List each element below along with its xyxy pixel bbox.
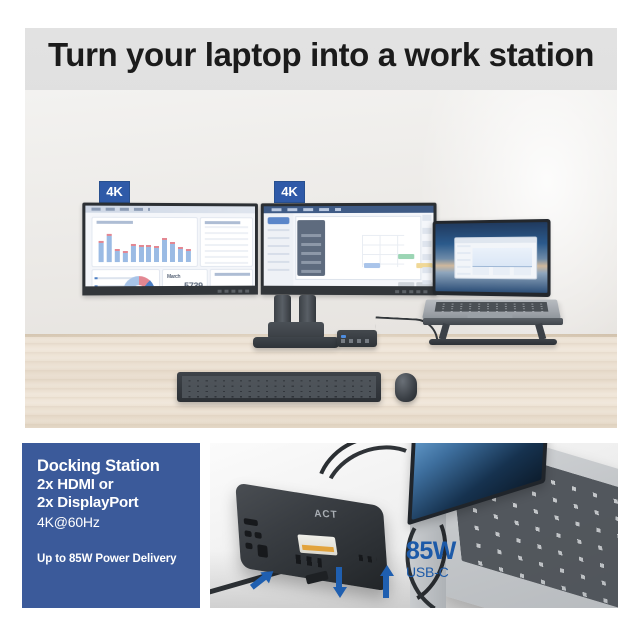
monitor-left: March 5739 (82, 203, 258, 296)
calendar-grid (362, 235, 404, 267)
window-sidebar (457, 245, 470, 275)
page-title: Turn your laptop into a work station (25, 36, 617, 74)
dock-rear-ports (359, 555, 377, 564)
act-brand-logo: ACT (314, 508, 338, 520)
desktop-keyboard (177, 372, 381, 402)
dashboard-list-card (200, 217, 253, 267)
laptop-keys (435, 302, 549, 312)
window-cards (472, 267, 532, 275)
riser-leg-left (439, 323, 450, 340)
monitor-right (261, 203, 437, 296)
monitor-stand-base (253, 337, 339, 348)
monitor-right-chin (261, 286, 437, 296)
spec-displayport: 2x DisplayPort (37, 494, 200, 512)
calendar-detail-overlay (297, 220, 325, 276)
bar-chart (93, 232, 197, 262)
badge-4k-left: 4K (99, 181, 130, 203)
riser-base (429, 339, 557, 345)
laptop-keyboard-deck (422, 300, 561, 320)
desktop-mouse (395, 373, 417, 402)
calendar-sidebar (264, 213, 294, 286)
product-sticker (297, 534, 337, 555)
laptop-wallpaper (435, 222, 547, 293)
monitor-left-screen: March 5739 (85, 206, 255, 287)
dashboard-bar-chart-card (91, 217, 197, 267)
monitor-buttons (395, 290, 429, 293)
dashboard-toolbar (85, 206, 255, 214)
power-led-icon (341, 335, 346, 338)
monitor-left-chin (82, 286, 258, 296)
riser-leg-right (535, 323, 546, 340)
desk-scene-photo: 4K 4K (25, 90, 617, 428)
dashboard-donut-card (91, 269, 160, 286)
spec-info-panel: Docking Station 2x HDMI or 2x DisplayPor… (22, 443, 200, 608)
monitor-buttons (218, 290, 251, 293)
power-wattage: 85W (406, 539, 456, 564)
data-list (205, 226, 248, 268)
hero-panel: Turn your laptop into a work station 4K … (25, 28, 617, 428)
calendar-toolbar (264, 206, 434, 214)
cable-up-arrow-tail (383, 575, 389, 598)
calendar-nav-list (268, 229, 290, 275)
calendar-event (364, 263, 380, 268)
product-marketing-image: Turn your laptop into a work station 4K … (0, 0, 640, 640)
spec-resolution: 4K@60Hz (37, 512, 200, 532)
product-name: Docking Station (37, 457, 200, 476)
dock-closeup-photo: ACT 85W USB-C (210, 443, 618, 608)
power-callout: 85W USB-C (406, 539, 456, 581)
laptop-display (433, 219, 551, 297)
dashboard-sparkline-card (210, 269, 253, 287)
docking-station-on-desk (337, 330, 377, 347)
cable-down-arrow (333, 587, 347, 598)
spec-hdmi: 2x HDMI or (37, 476, 200, 494)
badge-4k-right: 4K (274, 181, 305, 203)
spec-power-delivery: Up to 85W Power Delivery (37, 553, 176, 565)
card-title-bar (205, 221, 240, 224)
calendar-right-rail (422, 215, 431, 284)
monitor-right-screen (264, 206, 434, 287)
dashboard-kpi-card: March 5739 (162, 269, 208, 286)
cable-down-arrow-tail (336, 567, 342, 588)
dock-front-ports (295, 554, 322, 567)
kpi-period-label: March (167, 274, 180, 280)
power-connector-type: USB-C (406, 564, 456, 581)
card-title-bar (97, 221, 133, 224)
keyboard-keys (182, 376, 376, 398)
laptop-riser-stand (423, 318, 563, 344)
calendar-event (398, 254, 414, 259)
dock-side-ports (244, 518, 271, 562)
calendar-primary-button (268, 217, 290, 224)
cable-up-arrow (380, 565, 394, 576)
laptop-chart-window (454, 237, 537, 280)
card-title-bar (215, 273, 250, 276)
